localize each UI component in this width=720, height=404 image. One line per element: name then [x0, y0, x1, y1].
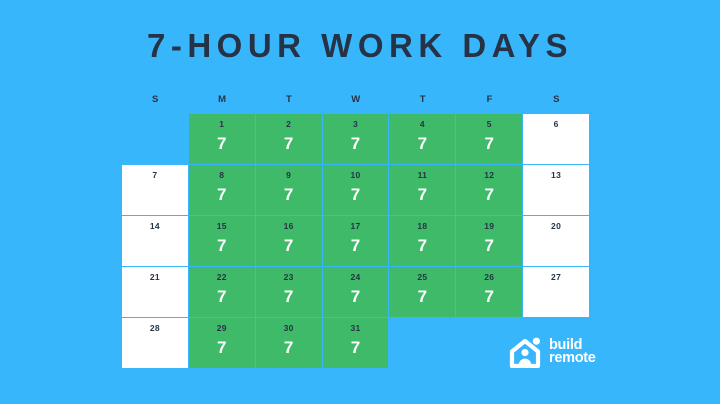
work-hours-value: 7: [323, 338, 389, 358]
day-number: 5: [456, 119, 522, 129]
calendar-day-cell[interactable]: 187: [389, 216, 456, 267]
calendar-day-cell[interactable]: 227: [189, 267, 256, 318]
day-number: 20: [523, 221, 589, 231]
calendar-week-row: 1415716717718719720: [122, 216, 590, 267]
work-hours-value: 7: [456, 287, 522, 307]
calendar-week-row: 7879710711712713: [122, 165, 590, 216]
day-number: 1: [189, 119, 255, 129]
day-number: 9: [256, 170, 322, 180]
calendar-day-cell[interactable]: 177: [323, 216, 390, 267]
calendar-day-cell[interactable]: 87: [189, 165, 256, 216]
calendar-cell-empty: [389, 318, 456, 369]
day-number: 11: [389, 170, 455, 180]
day-number: 27: [523, 272, 589, 282]
day-number: 16: [256, 221, 322, 231]
calendar-day-cell[interactable]: 13: [523, 165, 590, 216]
logo-wordmark: build remote: [549, 339, 596, 365]
calendar-day-cell[interactable]: 6: [523, 114, 590, 165]
work-hours-value: 7: [456, 236, 522, 256]
calendar-day-cell[interactable]: 267: [456, 267, 523, 318]
work-hours-value: 7: [256, 338, 322, 358]
day-of-week-header-row: SMTWTFS: [122, 88, 590, 110]
work-hours-value: 7: [256, 287, 322, 307]
day-of-week-label: T: [389, 94, 456, 105]
day-number: 10: [323, 170, 389, 180]
day-number: 26: [456, 272, 522, 282]
day-number: 28: [122, 323, 188, 333]
calendar: SMTWTFS 17273747576787971071171271314157…: [122, 88, 590, 369]
work-hours-value: 7: [323, 287, 389, 307]
day-of-week-label: S: [122, 94, 189, 105]
calendar-day-cell[interactable]: 297: [189, 318, 256, 369]
poster-canvas: 7-HOUR WORK DAYS SMTWTFS 172737475767879…: [0, 0, 720, 404]
day-number: 6: [523, 119, 589, 129]
calendar-cell-empty: [122, 114, 189, 165]
calendar-day-cell[interactable]: 97: [256, 165, 323, 216]
work-hours-value: 7: [189, 236, 255, 256]
calendar-day-cell[interactable]: 117: [389, 165, 456, 216]
work-hours-value: 7: [389, 134, 455, 154]
calendar-day-cell[interactable]: 28: [122, 318, 189, 369]
day-number: 25: [389, 272, 455, 282]
work-hours-value: 7: [323, 134, 389, 154]
calendar-day-cell[interactable]: 237: [256, 267, 323, 318]
calendar-week-row: 17273747576: [122, 114, 590, 165]
calendar-day-cell[interactable]: 37: [323, 114, 390, 165]
day-number: 2: [256, 119, 322, 129]
day-number: 22: [189, 272, 255, 282]
work-hours-value: 7: [323, 185, 389, 205]
work-hours-value: 7: [256, 236, 322, 256]
work-hours-value: 7: [323, 236, 389, 256]
day-number: 17: [323, 221, 389, 231]
calendar-day-cell[interactable]: 7: [122, 165, 189, 216]
calendar-day-cell[interactable]: 17: [189, 114, 256, 165]
day-number: 12: [456, 170, 522, 180]
house-person-icon: [508, 336, 542, 368]
day-number: 19: [456, 221, 522, 231]
work-hours-value: 7: [456, 134, 522, 154]
day-number: 3: [323, 119, 389, 129]
day-number: 8: [189, 170, 255, 180]
calendar-day-cell[interactable]: 127: [456, 165, 523, 216]
page-title: 7-HOUR WORK DAYS: [0, 26, 720, 66]
day-number: 4: [389, 119, 455, 129]
logo-line-remote: remote: [549, 352, 596, 365]
calendar-day-cell[interactable]: 167: [256, 216, 323, 267]
work-hours-value: 7: [189, 185, 255, 205]
calendar-day-cell[interactable]: 14: [122, 216, 189, 267]
calendar-week-row: 2122723724725726727: [122, 267, 590, 318]
day-of-week-label: W: [323, 94, 390, 105]
day-number: 14: [122, 221, 188, 231]
calendar-day-cell[interactable]: 247: [323, 267, 390, 318]
calendar-day-cell[interactable]: 197: [456, 216, 523, 267]
work-hours-value: 7: [256, 134, 322, 154]
work-hours-value: 7: [389, 185, 455, 205]
work-hours-value: 7: [256, 185, 322, 205]
day-of-week-label: S: [523, 94, 590, 105]
calendar-day-cell[interactable]: 47: [389, 114, 456, 165]
day-number: 18: [389, 221, 455, 231]
buildremote-logo: build remote: [508, 336, 596, 368]
work-hours-value: 7: [389, 236, 455, 256]
calendar-day-cell[interactable]: 27: [256, 114, 323, 165]
calendar-day-cell[interactable]: 21: [122, 267, 189, 318]
work-hours-value: 7: [189, 338, 255, 358]
day-number: 7: [122, 170, 188, 180]
work-hours-value: 7: [189, 287, 255, 307]
calendar-day-cell[interactable]: 27: [523, 267, 590, 318]
day-number: 13: [523, 170, 589, 180]
day-number: 23: [256, 272, 322, 282]
calendar-day-cell[interactable]: 107: [323, 165, 390, 216]
day-number: 29: [189, 323, 255, 333]
work-hours-value: 7: [389, 287, 455, 307]
calendar-grid: 1727374757678797107117127131415716717718…: [122, 114, 590, 369]
day-number: 30: [256, 323, 322, 333]
day-of-week-label: F: [456, 94, 523, 105]
calendar-day-cell[interactable]: 57: [456, 114, 523, 165]
calendar-day-cell[interactable]: 257: [389, 267, 456, 318]
calendar-day-cell[interactable]: 20: [523, 216, 590, 267]
day-number: 24: [323, 272, 389, 282]
calendar-day-cell[interactable]: 317: [323, 318, 390, 369]
work-hours-value: 7: [189, 134, 255, 154]
calendar-day-cell[interactable]: 157: [189, 216, 256, 267]
day-of-week-label: M: [189, 94, 256, 105]
day-number: 15: [189, 221, 255, 231]
day-number: 31: [323, 323, 389, 333]
calendar-day-cell[interactable]: 307: [256, 318, 323, 369]
day-of-week-label: T: [256, 94, 323, 105]
work-hours-value: 7: [456, 185, 522, 205]
day-number: 21: [122, 272, 188, 282]
